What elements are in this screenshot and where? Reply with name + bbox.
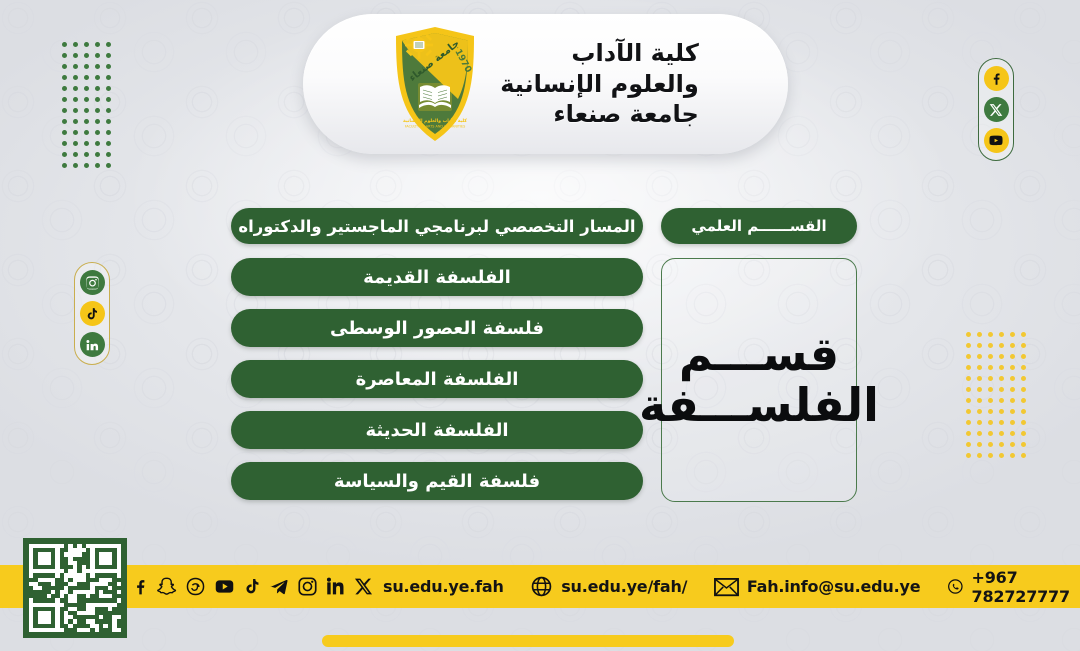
linkedin-icon[interactable] bbox=[325, 576, 347, 597]
track-item-1[interactable]: الفلسفة القديمة bbox=[231, 258, 643, 296]
track-item-2[interactable]: فلسفة العصور الوسطى bbox=[231, 309, 643, 347]
telegram-icon[interactable] bbox=[268, 576, 290, 597]
footer-website[interactable]: su.edu.ye/fah/ bbox=[530, 575, 687, 598]
track-item-label: فلسفة العصور الوسطى bbox=[330, 318, 544, 339]
poster-root: 1970 جامعة صنعاء كلية الآداب والعلوم الإ… bbox=[0, 0, 1080, 651]
footer-social-icons bbox=[131, 576, 373, 597]
program-track-header-label: المسار التخصصي لبرنامجي الماجستير والدكت… bbox=[238, 217, 635, 236]
header-banner: 1970 جامعة صنعاء كلية الآداب والعلوم الإ… bbox=[303, 14, 788, 154]
envelope-icon bbox=[714, 577, 739, 597]
side-social-pill-right bbox=[978, 58, 1014, 161]
threads-icon[interactable] bbox=[185, 576, 206, 597]
department-name-box: قســـم الفلســـفة bbox=[661, 258, 857, 502]
facebook-icon[interactable] bbox=[984, 66, 1009, 91]
x-icon[interactable] bbox=[984, 97, 1009, 122]
track-item-label: الفلسفة المعاصرة bbox=[356, 369, 519, 390]
track-item-3[interactable]: الفلسفة المعاصرة bbox=[231, 360, 643, 398]
tiktok-icon[interactable] bbox=[243, 576, 261, 597]
footer-email-text: Fah.info@su.edu.ye bbox=[747, 577, 921, 596]
department-header-label: القســــــم العلمي bbox=[691, 217, 826, 235]
track-item-4[interactable]: الفلسفة الحديثة bbox=[231, 411, 643, 449]
track-item-label: الفلسفة الحديثة bbox=[365, 420, 508, 441]
tiktok-icon[interactable] bbox=[80, 301, 105, 326]
track-item-label: فلسفة القيم والسياسة bbox=[334, 471, 540, 492]
department-panel: القســــــم العلمي قســـم الفلســـفة bbox=[661, 208, 857, 502]
university-logo-icon: 1970 جامعة صنعاء كلية الآداب والعلوم الإ… bbox=[392, 25, 478, 143]
footer-contact-bar: su.edu.ye.fah su.edu.ye/fah/ Fah.inf bbox=[0, 565, 1080, 608]
decorative-dot-grid-left bbox=[62, 42, 117, 174]
program-track-header: المسار التخصصي لبرنامجي الماجستير والدكت… bbox=[231, 208, 643, 244]
footer-phone-text: +967 782727777 bbox=[972, 568, 1080, 606]
footer-handle-text: su.edu.ye.fah bbox=[383, 577, 504, 596]
footer-email[interactable]: Fah.info@su.edu.ye bbox=[714, 577, 921, 597]
department-name: قســـم الفلســـفة bbox=[639, 329, 879, 430]
qr-code[interactable] bbox=[23, 538, 127, 638]
globe-icon bbox=[530, 575, 553, 598]
bottom-accent-bar bbox=[322, 635, 734, 647]
header-title: كلية الآداب والعلوم الإنسانية جامعة صنعا… bbox=[500, 38, 699, 130]
linkedin-icon[interactable] bbox=[80, 332, 105, 357]
facebook-icon[interactable] bbox=[131, 576, 150, 597]
footer-website-text: su.edu.ye/fah/ bbox=[561, 577, 687, 596]
youtube-icon[interactable] bbox=[213, 576, 236, 597]
program-track-list: المسار التخصصي لبرنامجي الماجستير والدكت… bbox=[231, 208, 643, 513]
footer-phone[interactable]: +967 782727777 bbox=[947, 568, 1080, 606]
instagram-icon[interactable] bbox=[80, 270, 105, 295]
track-item-label: الفلسفة القديمة bbox=[363, 267, 511, 288]
svg-text:FACULTY OF ARTS AND HUMANITIES: FACULTY OF ARTS AND HUMANITIES bbox=[405, 125, 466, 129]
instagram-icon[interactable] bbox=[297, 576, 318, 597]
whatsapp-icon bbox=[947, 575, 964, 598]
track-item-5[interactable]: فلسفة القيم والسياسة bbox=[231, 462, 643, 500]
decorative-dot-grid-right bbox=[966, 332, 1032, 464]
svg-text:كلية الآداب والعلوم الإنسانية: كلية الآداب والعلوم الإنسانية bbox=[403, 118, 467, 124]
snapchat-icon[interactable] bbox=[157, 576, 178, 597]
department-header: القســــــم العلمي bbox=[661, 208, 857, 244]
footer-handle[interactable]: su.edu.ye.fah bbox=[383, 577, 504, 596]
youtube-icon[interactable] bbox=[984, 128, 1009, 153]
x-icon[interactable] bbox=[354, 576, 373, 597]
side-social-pill-left bbox=[74, 262, 110, 365]
